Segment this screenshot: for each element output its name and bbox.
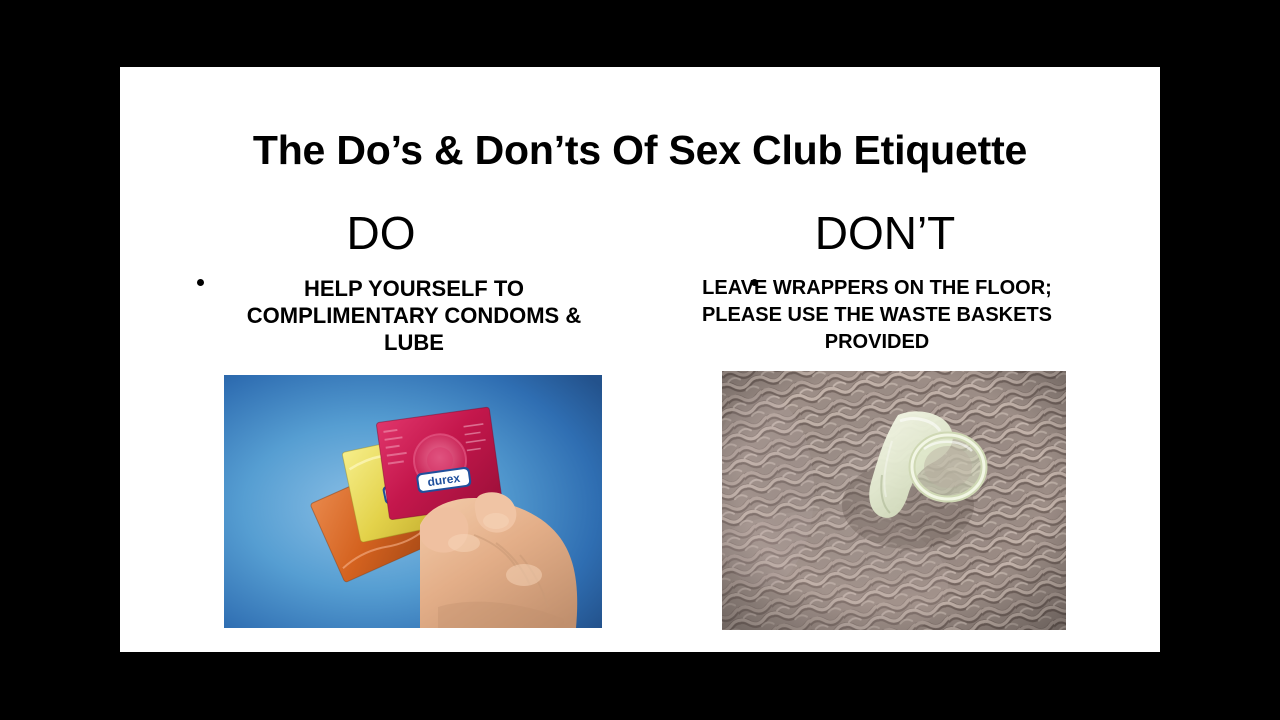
condoms-in-hand-illustration: durex durex	[224, 375, 602, 628]
column-do: DO HELP YOURSELF TO COMPLIMENTARY CONDOM…	[140, 207, 640, 356]
bullet-text-dont: LEAVE WRAPPERS ON THE FLOOR; PLEASE USE …	[682, 275, 1072, 356]
bullet-row-dont: LEAVE WRAPPERS ON THE FLOOR; PLEASE USE …	[630, 275, 1130, 356]
slide-viewer: The Do’s & Don’ts Of Sex Club Etiquette …	[0, 0, 1280, 720]
bullet-point-icon	[197, 279, 204, 286]
column-heading-dont: DON’T	[630, 207, 1130, 259]
column-heading-do: DO	[140, 207, 640, 259]
bullet-point-icon	[751, 279, 758, 286]
condom-on-carpet-photo	[722, 371, 1066, 630]
bullet-row-do: HELP YOURSELF TO COMPLIMENTARY CONDOMS &…	[140, 275, 640, 356]
bullet-text-do: HELP YOURSELF TO COMPLIMENTARY CONDOMS &…	[218, 275, 610, 356]
column-dont: DON’T LEAVE WRAPPERS ON THE FLOOR; PLEAS…	[630, 207, 1130, 356]
condom-on-carpet-illustration	[722, 371, 1066, 630]
condoms-in-hand-photo: durex durex	[224, 375, 602, 628]
presentation-slide: The Do’s & Don’ts Of Sex Club Etiquette …	[120, 67, 1160, 652]
page-title: The Do’s & Don’ts Of Sex Club Etiquette	[120, 127, 1160, 173]
